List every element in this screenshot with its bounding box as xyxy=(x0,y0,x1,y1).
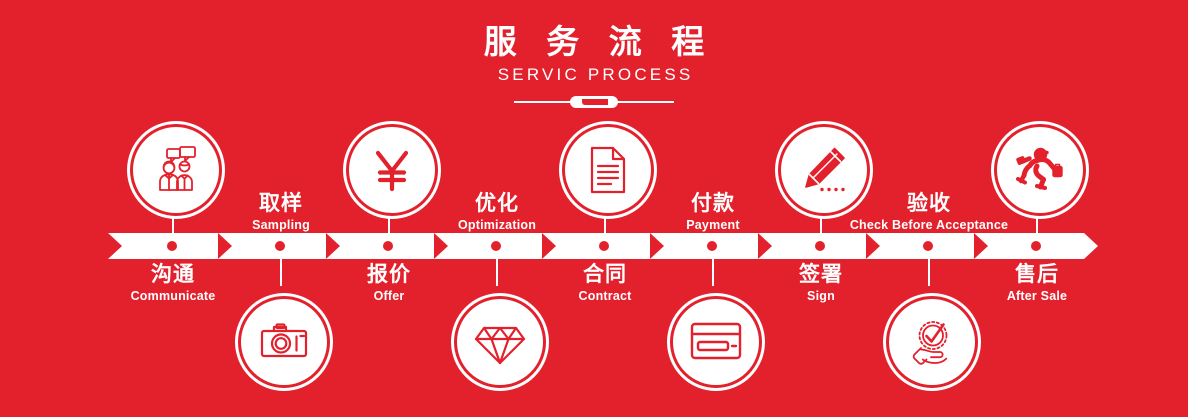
step-label-payment: 付款 Payment xyxy=(603,190,823,233)
step-label-cn: 验收 xyxy=(819,190,1039,216)
step-label-cn: 付款 xyxy=(603,190,823,216)
step-label-cn: 合同 xyxy=(495,261,715,287)
timeline-node-3 xyxy=(383,241,393,251)
step-label-en: Communicate xyxy=(63,288,283,304)
divider-clip-slot xyxy=(582,99,600,101)
timeline-node-6 xyxy=(707,241,717,251)
step-label-en: Payment xyxy=(603,217,823,233)
yen-currency-icon xyxy=(367,144,417,196)
divider-line-left xyxy=(514,101,572,103)
step-label-cn: 签署 xyxy=(711,261,931,287)
step-label-after-sale: 售后 After Sale xyxy=(927,261,1147,304)
step-icon-sampling[interactable] xyxy=(238,296,330,388)
timeline-node-9 xyxy=(1031,241,1041,251)
step-label-en: After Sale xyxy=(927,288,1147,304)
arrow-bar-band xyxy=(108,233,1084,259)
paperclip-divider-icon xyxy=(514,94,674,110)
step-label-optimization: 优化 Optimization xyxy=(387,190,607,233)
step-icon-optimization[interactable] xyxy=(454,296,546,388)
step-label-sampling: 取样 Sampling xyxy=(171,190,391,233)
page-title-cn: 服 务 流 程 xyxy=(0,22,1188,62)
running-courier-icon xyxy=(1013,145,1067,195)
hand-check-badge-icon xyxy=(905,315,959,369)
step-label-sign: 签署 Sign xyxy=(711,261,931,304)
timeline-node-4 xyxy=(491,241,501,251)
camera-icon xyxy=(257,315,311,369)
diamond-icon xyxy=(474,316,526,368)
timeline-node-7 xyxy=(815,241,825,251)
divider-line-right xyxy=(616,101,674,103)
step-label-cn: 取样 xyxy=(171,190,391,216)
pencil-signing-icon xyxy=(798,144,850,196)
header: 服 务 流 程 SERVIC PROCESS xyxy=(0,22,1188,110)
step-label-en: Sign xyxy=(711,288,931,304)
page-title-en: SERVIC PROCESS xyxy=(0,64,1188,86)
step-label-en: Optimization xyxy=(387,217,607,233)
service-process-infographic: 服 务 流 程 SERVIC PROCESS xyxy=(0,0,1188,417)
timeline-arrow-bar xyxy=(108,233,1098,259)
document-icon xyxy=(585,144,631,196)
people-speech-bubbles-icon xyxy=(150,144,202,196)
step-label-contract: 合同 Contract xyxy=(495,261,715,304)
timeline-node-1 xyxy=(167,241,177,251)
step-label-en: Contract xyxy=(495,288,715,304)
step-icon-acceptance[interactable] xyxy=(886,296,978,388)
arrow-bar-end-tip xyxy=(1084,233,1098,259)
step-label-cn: 售后 xyxy=(927,261,1147,287)
credit-card-icon xyxy=(689,320,743,364)
step-label-cn: 优化 xyxy=(387,190,607,216)
step-label-en: Sampling xyxy=(171,217,391,233)
timeline-node-8 xyxy=(923,241,933,251)
step-label-cn: 沟通 xyxy=(63,261,283,287)
step-label-en: Offer xyxy=(279,288,499,304)
step-label-offer: 报价 Offer xyxy=(279,261,499,304)
step-label-en: Check Before Acceptance xyxy=(819,217,1039,233)
timeline-node-5 xyxy=(599,241,609,251)
step-icon-payment[interactable] xyxy=(670,296,762,388)
step-label-acceptance: 验收 Check Before Acceptance xyxy=(819,190,1039,233)
timeline-node-2 xyxy=(275,241,285,251)
step-label-cn: 报价 xyxy=(279,261,499,287)
step-label-communicate: 沟通 Communicate xyxy=(63,261,283,304)
